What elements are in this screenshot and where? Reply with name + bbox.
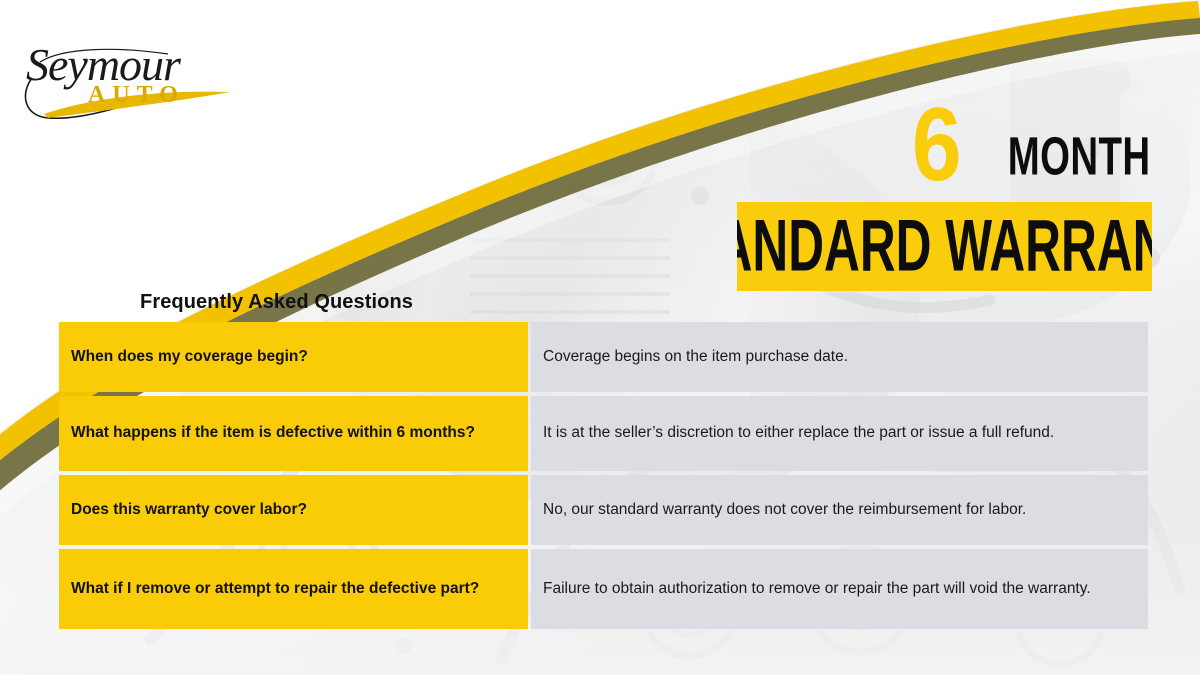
- faq-answer-text: No, our standard warranty does not cover…: [543, 500, 1134, 521]
- faq-question-cell: Does this warranty cover labor?: [59, 475, 528, 545]
- logo-auto-text: AUTO: [88, 82, 185, 108]
- faq-answer-cell: Coverage begins on the item purchase dat…: [531, 322, 1148, 392]
- faq-question-cell: What if I remove or attempt to repair th…: [59, 549, 528, 629]
- standard-warranty-text: STANDARD WARRANTY: [737, 210, 1152, 283]
- warranty-duration-number: 6: [912, 103, 960, 188]
- faq-question-text: What happens if the item is defective wi…: [71, 423, 475, 443]
- warranty-slide: Seymour AUTO 6 MONTH STANDARD WARRANTY F…: [0, 0, 1200, 675]
- faq-question-text: Does this warranty cover labor?: [71, 500, 307, 520]
- faq-question-cell: What happens if the item is defective wi…: [59, 396, 528, 471]
- faq-row: Does this warranty cover labor? No, our …: [59, 475, 1148, 545]
- warranty-headline: 6 MONTH STANDARD WARRANTY: [737, 78, 1152, 291]
- warranty-duration-unit: MONTH: [1007, 132, 1150, 188]
- faq-answer-text: Coverage begins on the item purchase dat…: [543, 347, 1134, 368]
- headline-top-row: 6 MONTH: [737, 78, 1152, 188]
- standard-warranty-banner: STANDARD WARRANTY: [737, 202, 1152, 291]
- faq-answer-cell: No, our standard warranty does not cover…: [531, 475, 1148, 545]
- faq-heading: Frequently Asked Questions: [140, 291, 413, 314]
- faq-row: What happens if the item is defective wi…: [59, 396, 1148, 471]
- faq-question-text: When does my coverage begin?: [71, 347, 308, 367]
- faq-answer-cell: Failure to obtain authorization to remov…: [531, 549, 1148, 629]
- seymour-auto-logo: Seymour AUTO: [18, 18, 248, 126]
- faq-answer-text: It is at the seller’s discretion to eith…: [543, 423, 1134, 444]
- faq-table: When does my coverage begin? Coverage be…: [59, 322, 1148, 629]
- faq-question-text: What if I remove or attempt to repair th…: [71, 579, 479, 599]
- faq-row: When does my coverage begin? Coverage be…: [59, 322, 1148, 392]
- faq-question-cell: When does my coverage begin?: [59, 322, 528, 392]
- faq-answer-cell: It is at the seller’s discretion to eith…: [531, 396, 1148, 471]
- faq-answer-text: Failure to obtain authorization to remov…: [543, 579, 1134, 600]
- faq-row: What if I remove or attempt to repair th…: [59, 549, 1148, 629]
